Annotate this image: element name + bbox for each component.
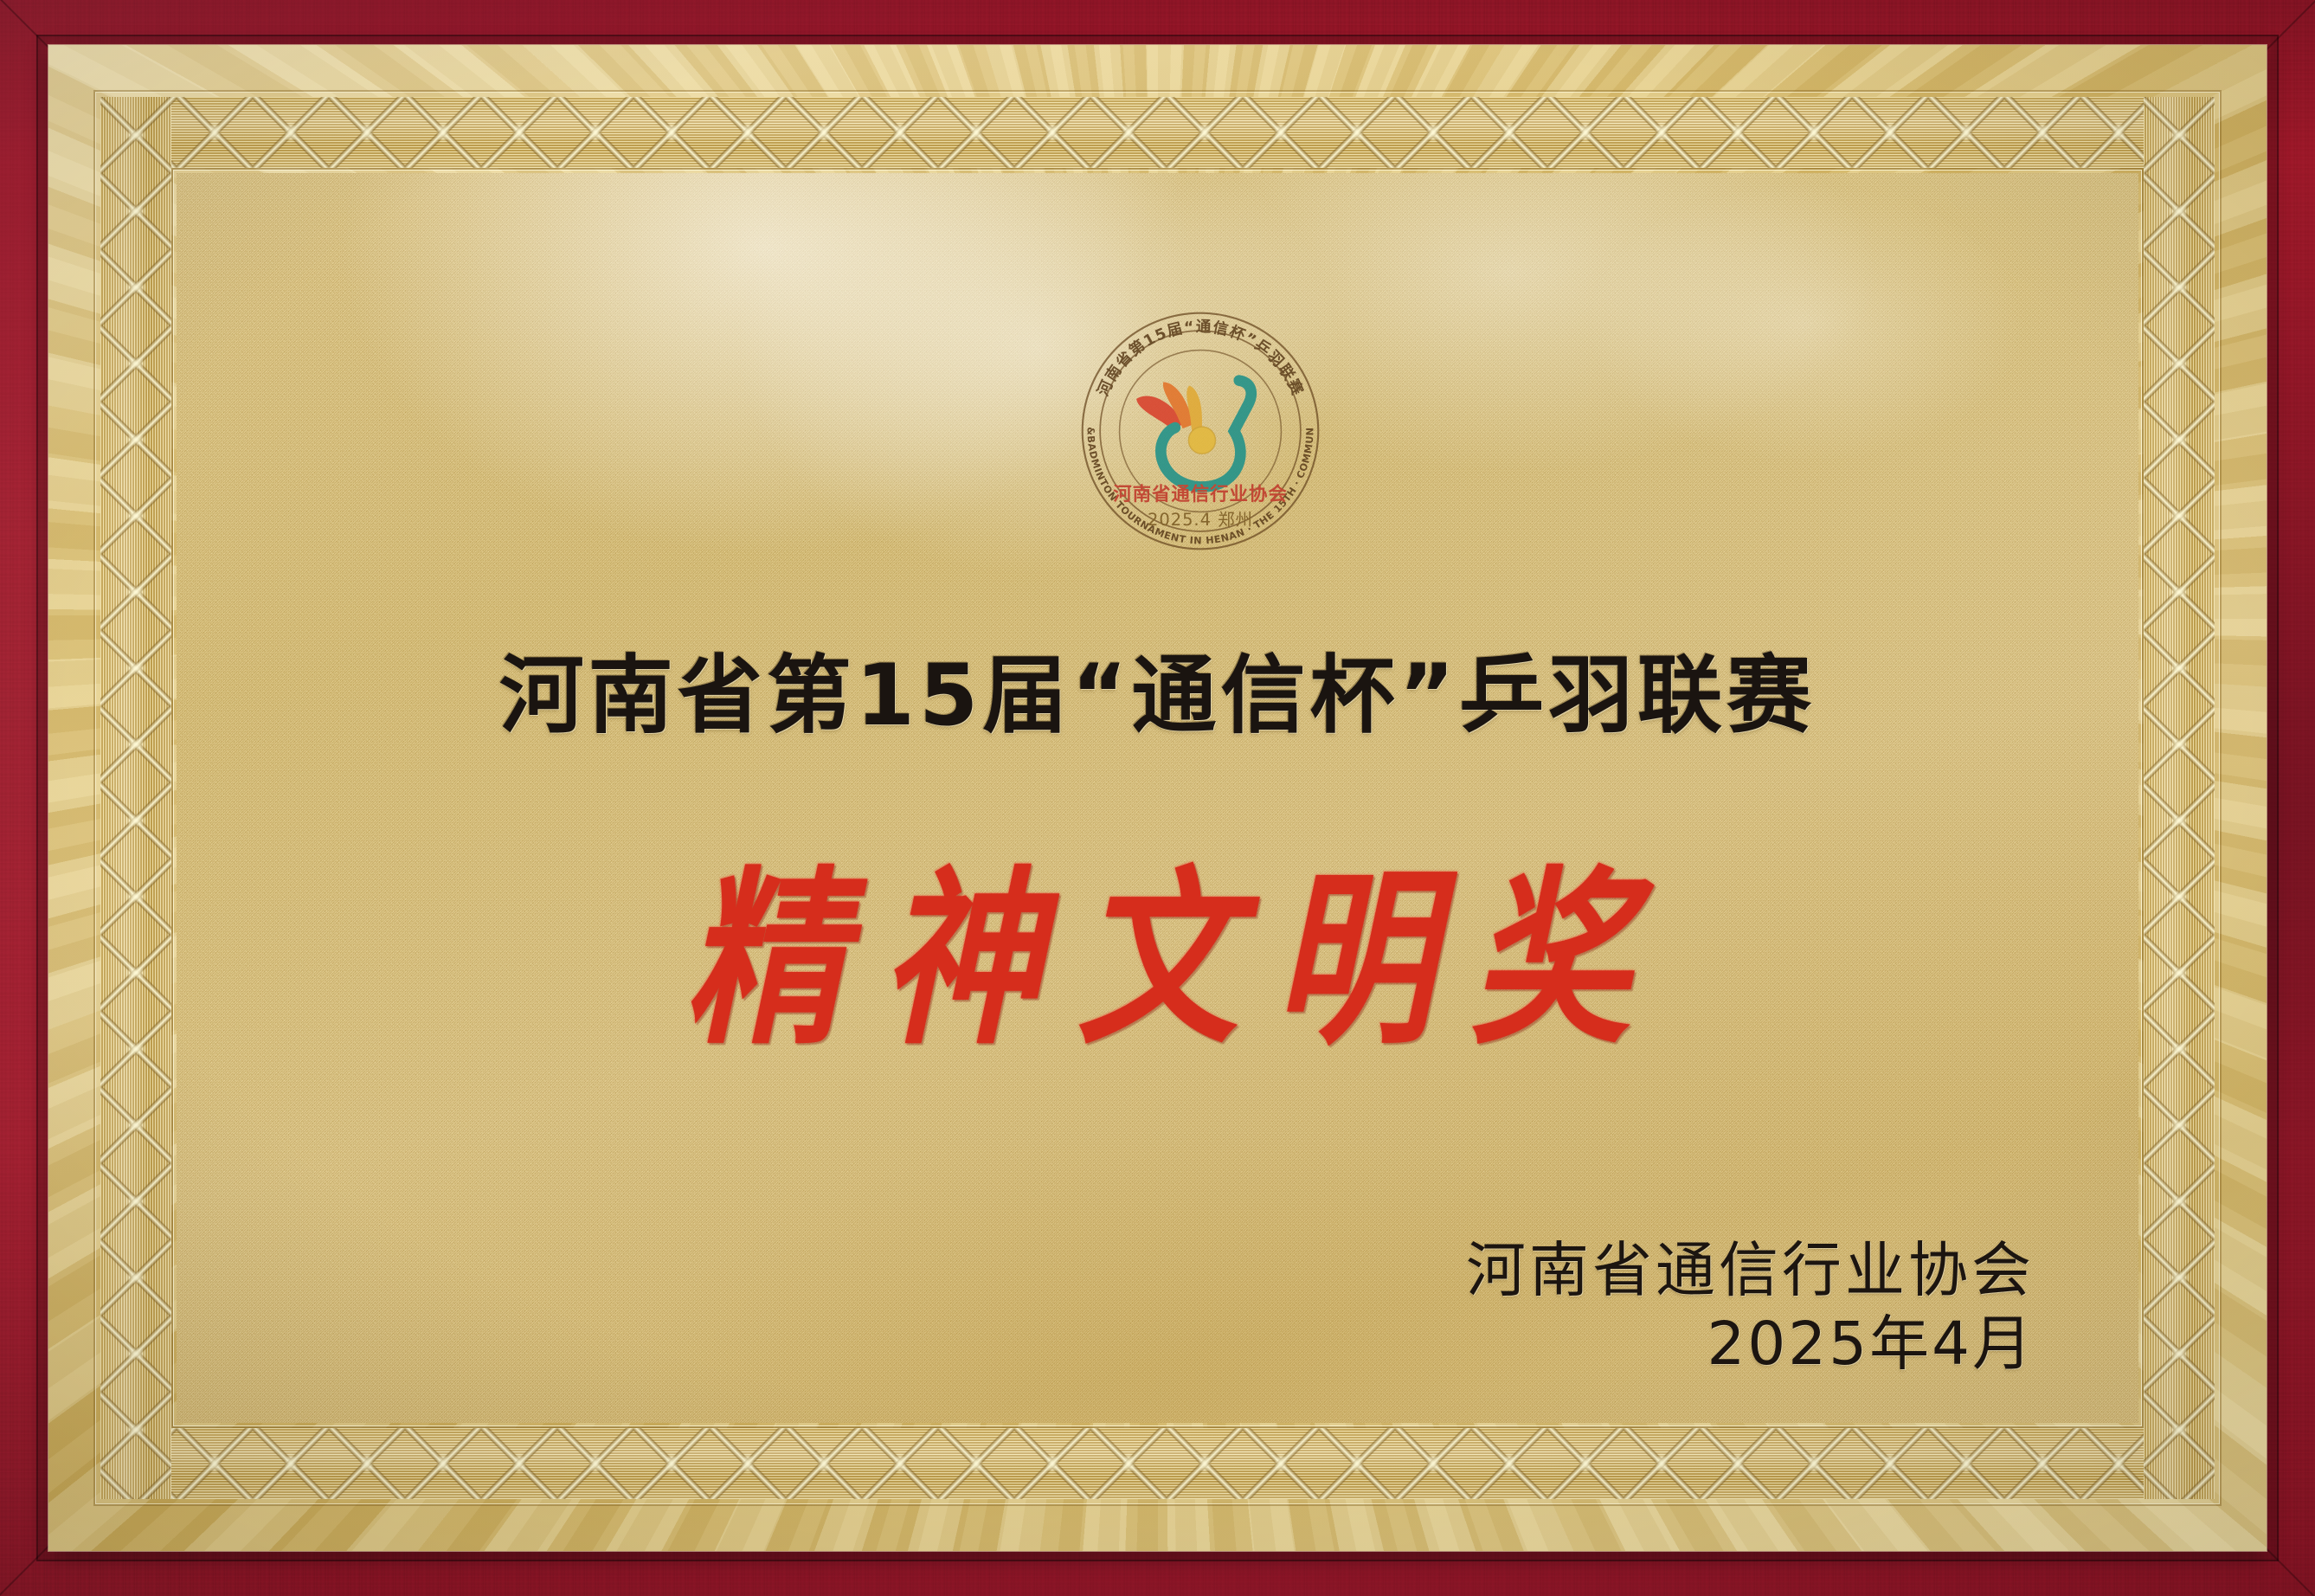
issue-date: 2025年4月 bbox=[1466, 1304, 2035, 1385]
page-title: 河南省第15届“通信杯”乒羽联赛 bbox=[48, 627, 2267, 750]
shuttlecock-feathers bbox=[1136, 383, 1202, 431]
tournament-emblem-logo: 河南省第15届“通信杯”乒羽联赛 TABLE TENNIS&BADMINTON … bbox=[1074, 305, 1327, 557]
award-name-calligraphy: 精神文明奖 bbox=[48, 807, 2267, 1080]
plaque-content: 河南省第15届“通信杯”乒羽联赛 TABLE TENNIS&BADMINTON … bbox=[48, 45, 2267, 1551]
emblem-org-text: 河南省通信行业协会 bbox=[1113, 483, 1287, 505]
plaque-photo: 河南省第15届“通信杯”乒羽联赛 TABLE TENNIS&BADMINTON … bbox=[0, 0, 2315, 1596]
gold-plate: 河南省第15届“通信杯”乒羽联赛 TABLE TENNIS&BADMINTON … bbox=[48, 45, 2267, 1551]
signature-block: 河南省通信行业协会 2025年4月 bbox=[1466, 1238, 2035, 1385]
emblem-arc-title-text: 河南省第15届“通信杯”乒羽联赛 bbox=[1095, 319, 1307, 399]
emblem-date-city-text: 2025.4 郑州 bbox=[1148, 510, 1253, 530]
issuing-organization: 河南省通信行业协会 bbox=[1466, 1238, 2035, 1304]
